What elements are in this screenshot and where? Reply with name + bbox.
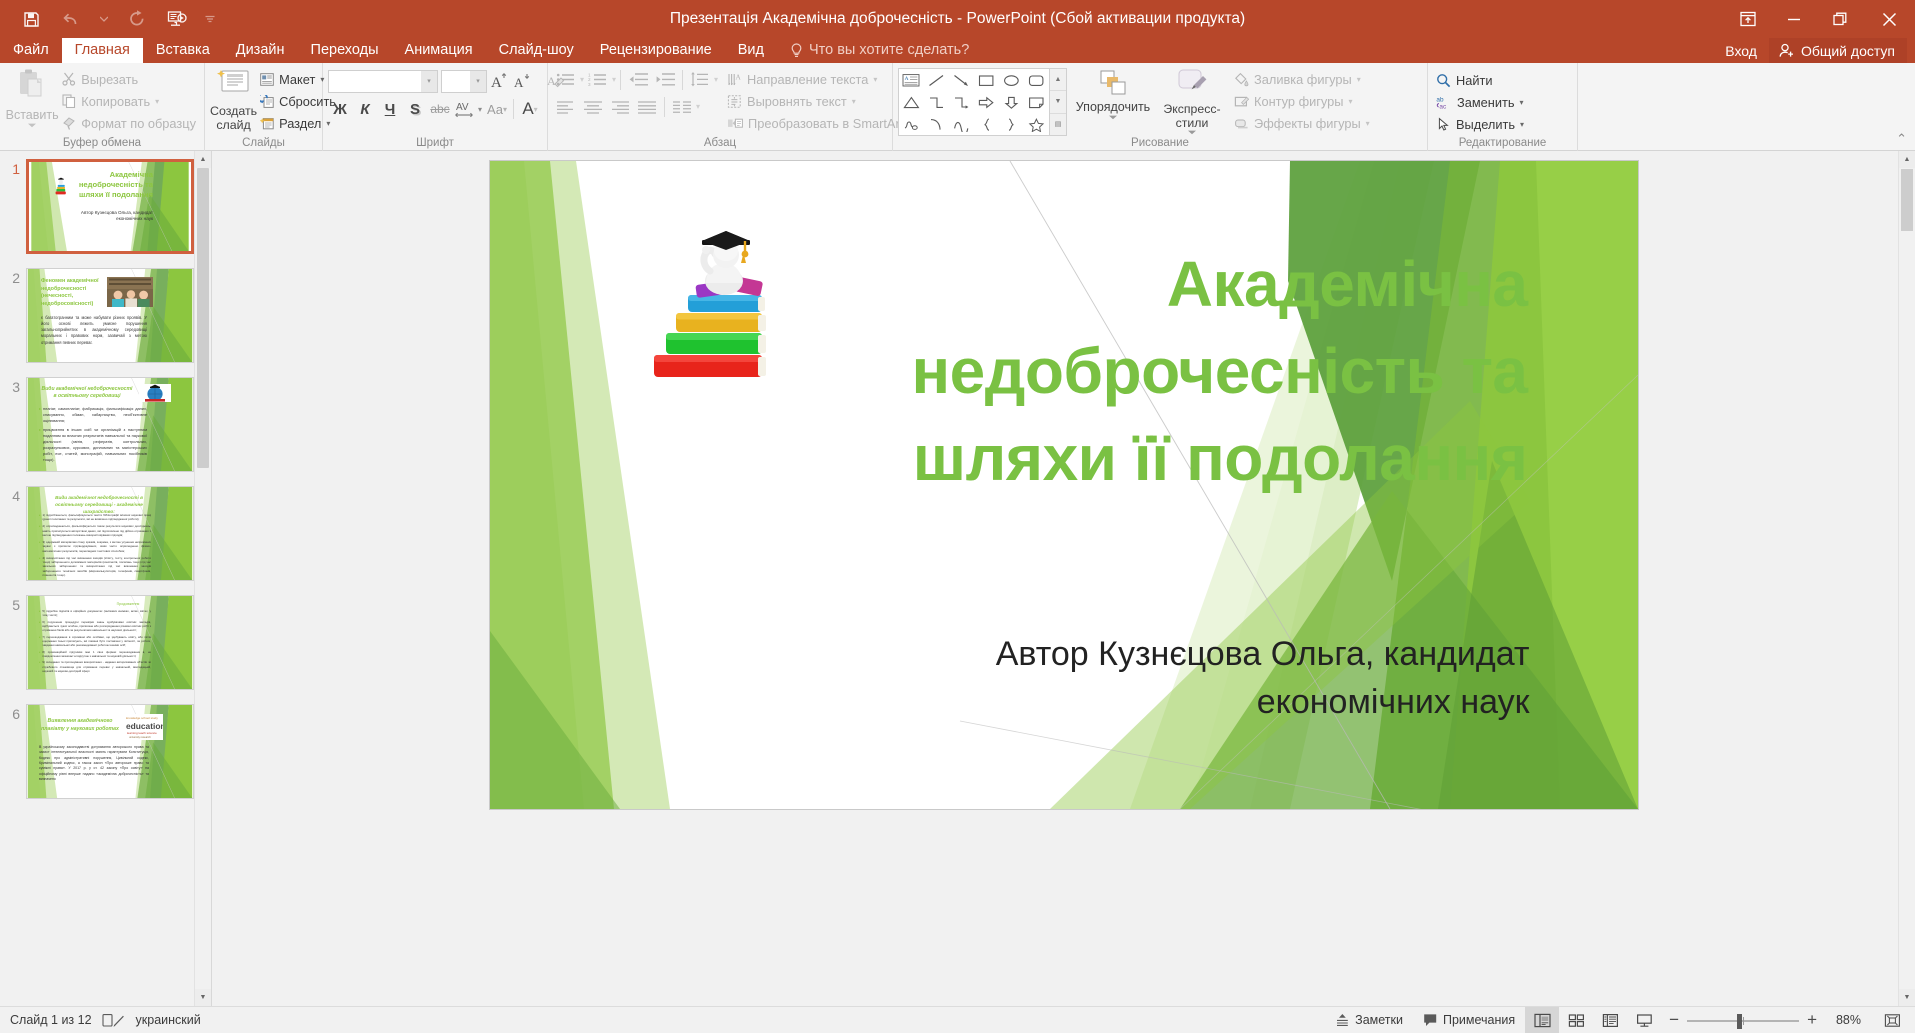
window-controls [1725, 0, 1915, 38]
slide-thumbnail-image[interactable]: Види академічної недоброчесності в освіт… [26, 486, 194, 581]
slide-thumbnail-title: Види академічної недоброчесності в освіт… [41, 386, 133, 401]
chevron-down-icon[interactable]: ▾ [580, 75, 584, 84]
shape-outline-button[interactable]: Контур фигуры ▾ [1231, 90, 1373, 112]
ribbon-display-options-icon[interactable] [1725, 0, 1771, 38]
ribbon-group-clipboard: Вставить Вырезать Копировать ▾ [0, 63, 205, 151]
character-spacing-button[interactable]: AV ▾ [453, 97, 484, 121]
find-label: Найти [1456, 73, 1493, 88]
language-indicator[interactable]: украинский [136, 1013, 201, 1027]
notes-button[interactable]: Заметки [1325, 1007, 1413, 1033]
section-icon [260, 117, 274, 130]
reset-icon [260, 95, 274, 108]
fit-slide-to-window-button[interactable] [1875, 1007, 1909, 1033]
ribbon-group-paragraph-label: Абзац [553, 136, 887, 151]
status-bar-left: Слайд 1 из 12 украинский [0, 1013, 201, 1028]
slide-thumbnail-title: Продовження [105, 602, 151, 606]
notes-icon [1335, 1013, 1350, 1027]
shape-effects-button[interactable]: Эффекты фигуры ▾ [1231, 112, 1373, 134]
chevron-down-icon[interactable]: ▾ [852, 97, 856, 106]
copy-button[interactable]: Копировать ▾ [59, 90, 199, 112]
minimize-icon[interactable] [1771, 0, 1817, 38]
align-center-button[interactable] [580, 95, 606, 119]
zoom-slider[interactable] [1687, 1007, 1799, 1033]
svg-text:AV: AV [456, 102, 469, 113]
replace-icon: abac [1436, 95, 1452, 110]
svg-text:education: education [126, 721, 163, 731]
shapes-gallery-scrollbar[interactable]: ▲ ▼ ▤ [1050, 68, 1067, 136]
tab-slideshow[interactable]: Слайд-шоу [486, 38, 587, 63]
comments-label: Примечания [1443, 1013, 1515, 1027]
chevron-down-icon[interactable]: ▾ [1357, 75, 1361, 84]
ribbon: Вставить Вырезать Копировать ▾ [0, 63, 1915, 151]
text-direction-label: Направление текста [747, 72, 868, 87]
comments-button[interactable]: Примечания [1413, 1007, 1525, 1033]
zoom-slider-handle[interactable] [1737, 1014, 1742, 1029]
shape-effects-label: Эффекты фигуры [1254, 116, 1361, 131]
divider [664, 97, 665, 117]
chevron-down-icon[interactable]: ▾ [155, 97, 159, 106]
shape-curve-icon[interactable] [949, 113, 974, 135]
shapes-more-icon[interactable]: ▤ [1050, 114, 1066, 135]
normal-view-button[interactable] [1525, 1007, 1559, 1033]
workspace: 1 [0, 151, 1915, 1006]
slide-thumbnail-image[interactable]: Академічна недоброчесність та шляхи її п… [26, 159, 194, 254]
change-case-button[interactable]: Aa ▾ [485, 97, 509, 121]
redo-icon[interactable] [118, 3, 156, 35]
slide-thumbnail-6[interactable]: 6 Виявлення академічного плагіату у наук… [0, 704, 211, 813]
slide-title[interactable]: Академічна недоброчесність та шляхи її п… [820, 241, 1528, 502]
shape-outline-icon [1234, 94, 1249, 109]
thumbnails-scrollbar[interactable]: ▲ ▼ [194, 151, 211, 1006]
slide-thumbnail-list: 1 [0, 151, 211, 813]
tell-me-label: Что вы хотите сделать? [809, 41, 969, 60]
undo-icon[interactable] [52, 3, 90, 35]
slide-thumbnail-photo [107, 277, 153, 307]
ribbon-group-paragraph: ▾ 123 ▾ ▾ [548, 63, 893, 151]
bullet-icon: ▸ [39, 620, 40, 633]
shape-effects-icon [1234, 116, 1249, 131]
search-icon [1436, 73, 1451, 88]
zoom-level-label[interactable]: 88% [1825, 1013, 1867, 1027]
cut-label: Вырезать [81, 72, 138, 87]
bullet-icon: ▸ [39, 427, 41, 463]
tabstrip-right-zone: Вход Общий доступ [1713, 38, 1915, 63]
font-color-button[interactable]: A ▾ [518, 97, 542, 121]
svg-text:ac: ac [1439, 103, 1447, 109]
ribbon-group-drawing: A [893, 63, 1428, 151]
svg-text:learning teach science: learning teach science [127, 731, 157, 735]
shape-arc-icon[interactable] [924, 113, 949, 135]
bullet-icon: ▸ [39, 660, 40, 673]
svg-text:ab: ab [1436, 96, 1444, 103]
slide-number: 5 [0, 595, 26, 613]
shape-scribble-icon[interactable] [899, 113, 924, 135]
align-text-button[interactable]: Выровнять текст ▾ [724, 90, 915, 112]
increase-font-size-button[interactable]: A [490, 69, 510, 93]
zoom-slider-midpoint [1743, 1017, 1744, 1025]
save-icon[interactable] [12, 3, 50, 35]
title-bar: Презентація Академічна доброчесність - P… [0, 0, 1915, 38]
svg-text:university research: university research [129, 735, 151, 739]
ribbon-group-drawing-label: Рисование [898, 136, 1422, 151]
restore-icon[interactable] [1817, 0, 1863, 38]
quick-access-toolbar [0, 3, 222, 35]
font-name-combobox[interactable]: ▾ [328, 70, 438, 93]
copy-icon [62, 94, 76, 108]
tell-me-search[interactable]: Что вы хотите сделать? [777, 38, 982, 63]
current-slide[interactable]: Академічна недоброчесність та шляхи її п… [490, 161, 1638, 809]
ribbon-group-slides-label: Слайды [210, 136, 317, 151]
tab-transitions[interactable]: Переходы [298, 38, 392, 63]
ribbon-group-slides: Создать слайд Макет ▾ Сбросить [205, 63, 323, 151]
status-bar-right: Заметки Примечания − + 8 [1325, 1007, 1915, 1033]
slideshow-view-button[interactable] [1627, 1007, 1661, 1033]
shape-fill-icon [1234, 72, 1249, 87]
format-painter-label: Формат по образцу [81, 116, 196, 131]
svg-text:A: A [905, 76, 909, 82]
shape-rectangle-icon[interactable] [974, 69, 999, 91]
font-name-input[interactable] [329, 72, 421, 91]
new-slide-label: Создать слайд [210, 104, 257, 132]
bullet-icon: ▸ [39, 513, 40, 522]
chevron-down-icon[interactable]: ▾ [478, 105, 482, 114]
chevron-down-icon[interactable]: ▾ [1366, 119, 1370, 128]
slide-thumbnail-4[interactable]: 4 Види академічної недоброчесності в осв… [0, 486, 211, 595]
svg-text:A: A [491, 75, 502, 90]
shape-elbow-arrow-icon[interactable] [949, 91, 974, 113]
status-bar: Слайд 1 из 12 украинский Заметки Примеча… [0, 1006, 1915, 1033]
layout-label: Макет [279, 72, 315, 87]
tab-view[interactable]: Вид [725, 38, 777, 63]
slide-thumbnails-pane: 1 [0, 151, 212, 1006]
shape-ellipse-icon[interactable] [999, 69, 1024, 91]
shape-right-brace-icon[interactable] [999, 113, 1024, 135]
scroll-down-icon[interactable]: ▼ [1050, 91, 1066, 113]
divider [620, 70, 621, 90]
thumbnails-scrollbar-thumb[interactable] [197, 168, 209, 468]
ribbon-group-editing: Найти abac Заменить ▾ Выделить ▾ [1428, 63, 1578, 151]
bullet-icon: ▸ [39, 556, 40, 578]
ribbon-group-font-label: Шрифт [328, 136, 542, 151]
slide-thumbnail-image[interactable]: Виявлення академічного плагіату у науков… [26, 704, 194, 799]
slide-scrollbar-thumb[interactable] [1901, 169, 1913, 231]
replace-button[interactable]: abac Заменить ▾ [1433, 91, 1527, 113]
shape-line-icon[interactable] [924, 69, 949, 91]
align-left-button[interactable] [553, 95, 579, 119]
slide-sorter-view-button[interactable] [1559, 1007, 1593, 1033]
divider [513, 99, 514, 119]
slide-thumbnail-5[interactable]: 5 Продовження ▸5) підробка підпи [0, 595, 211, 704]
shape-elbow-connector-icon[interactable] [924, 91, 949, 113]
shape-arrow-icon[interactable] [949, 69, 974, 91]
slide-canvas-area: Академічна недоброчесність та шляхи її п… [212, 151, 1915, 1006]
format-painter-button[interactable]: Формат по образцу [59, 112, 199, 134]
quick-styles-label: Экспресс-стили [1153, 102, 1231, 130]
strikethrough-button[interactable]: abc [428, 97, 452, 121]
text-direction-icon: A [727, 72, 742, 87]
chevron-down-icon[interactable]: ▾ [696, 102, 700, 111]
chevron-down-icon[interactable]: ▾ [714, 75, 718, 84]
justify-button[interactable] [634, 95, 660, 119]
share-label: Общий доступ [1801, 43, 1895, 59]
sign-in-link[interactable]: Вход [1713, 43, 1769, 59]
person-add-icon [1779, 43, 1795, 58]
shape-folded-corner-icon[interactable] [1024, 91, 1049, 113]
slide-author[interactable]: Автор Кузнєцова Ольга, кандидат економіч… [820, 631, 1530, 726]
zoom-control[interactable]: − + 88% [1661, 1007, 1875, 1033]
shape-right-arrow-icon[interactable] [974, 91, 999, 113]
arrange-label: Упорядочить [1076, 100, 1150, 114]
slide-thumbnail-3[interactable]: 3 Види академічної недоброчесності в осв… [0, 377, 211, 486]
slide-thumbnail-image[interactable]: Продовження ▸5) підробка підписів в офіц… [26, 595, 194, 690]
slide-thumbnail-body: В українському законодавстві дотримання … [39, 745, 149, 782]
shape-fill-button[interactable]: Заливка фигуры ▾ [1231, 68, 1373, 90]
slide-thumbnail-title: Феномен академічної недоброчесності (неч… [41, 278, 103, 309]
align-text-icon [727, 94, 742, 109]
text-shadow-button[interactable]: S [403, 97, 427, 121]
notes-label: Заметки [1355, 1013, 1403, 1027]
window-title: Презентація Академічна доброчесність - P… [0, 10, 1915, 28]
tab-home[interactable]: Главная [62, 38, 143, 63]
comment-icon [1423, 1013, 1438, 1027]
new-slide-button[interactable]: Создать слайд [210, 66, 257, 132]
chevron-down-icon[interactable]: ▾ [1520, 120, 1524, 129]
italic-button[interactable]: К [353, 97, 377, 121]
cut-button[interactable]: Вырезать [59, 68, 199, 90]
increase-indent-button[interactable] [652, 68, 678, 92]
convert-to-smartart-label: Преобразовать в SmartArt [748, 116, 903, 131]
slide-number: 4 [0, 486, 26, 504]
slide-thumbnail-bullets: ▸1) підроблюються, фальсифікуються текст… [39, 513, 151, 577]
slide-thumbnail-title: Виявлення академічного плагіату у науков… [41, 718, 119, 733]
arrange-button[interactable]: Упорядочить [1067, 66, 1153, 120]
chevron-down-icon[interactable]: ▾ [503, 105, 507, 114]
align-text-label: Выровнять текст [747, 94, 847, 109]
convert-to-smartart-button[interactable]: Преобразовать в SmartArt ▾ [724, 112, 915, 134]
line-spacing-button[interactable] [687, 68, 713, 92]
scroll-up-icon[interactable]: ▲ [1050, 69, 1066, 91]
shape-triangle-icon[interactable] [899, 91, 924, 113]
numbering-button[interactable]: 123 [585, 68, 611, 92]
bullet-icon: ▸ [39, 635, 40, 648]
chevron-down-icon[interactable]: ▾ [873, 75, 877, 84]
svg-text:A: A [735, 72, 741, 81]
svg-text:A: A [514, 75, 524, 90]
chevron-down-icon[interactable]: ▾ [421, 71, 437, 92]
align-right-button[interactable] [607, 95, 633, 119]
reading-view-button[interactable] [1593, 1007, 1627, 1033]
shape-textbox-icon[interactable]: A [899, 69, 924, 91]
layout-icon [260, 73, 274, 86]
columns-button[interactable] [669, 95, 695, 119]
slide-thumbnail-image[interactable]: Феномен академічної недоброчесності (неч… [26, 268, 194, 363]
slide-thumbnail-photo [139, 384, 171, 402]
scissors-icon [62, 72, 76, 86]
smartart-icon [727, 116, 743, 131]
spell-check-icon[interactable] [102, 1013, 126, 1028]
underline-button[interactable]: Ч [378, 97, 402, 121]
font-size-input[interactable] [442, 72, 470, 91]
bullet-icon: ▸ [39, 524, 40, 537]
slide-thumbnail-title: Академічна недоброчесність та шляхи її п… [63, 170, 153, 200]
collapse-ribbon-button[interactable]: ⌃ [1896, 131, 1907, 147]
slide-thumbnail-subtitle: Автор Кузнєцова Ольга, кандидат економіч… [69, 210, 153, 222]
shapes-gallery[interactable]: A [898, 66, 1067, 136]
tab-review[interactable]: Рецензирование [587, 38, 725, 63]
ribbon-tabs: Файл Главная Вставка Дизайн Переходы Ани… [0, 38, 1915, 63]
bullet-icon: ▸ [39, 609, 40, 617]
slide-thumbnail-bullets: ▸плагіат, самоплагіат, фабрикація, фальс… [39, 406, 147, 463]
format-painter-icon [62, 116, 76, 130]
decrease-font-size-button[interactable]: A [513, 69, 533, 93]
chevron-down-icon[interactable]: ▾ [612, 75, 616, 84]
chevron-down-icon[interactable]: ▾ [470, 71, 486, 92]
tab-insert[interactable]: Вставка [143, 38, 223, 63]
slide-vertical-scrollbar[interactable]: ▲ ▼ [1898, 151, 1915, 1006]
ribbon-group-font: ▾ ▾ A A A Ж К Ч [323, 63, 548, 151]
shape-down-arrow-icon[interactable] [999, 91, 1024, 113]
chevron-down-icon[interactable]: ▾ [534, 105, 538, 114]
slide-number: 1 [0, 159, 26, 177]
font-size-combobox[interactable]: ▾ [441, 70, 487, 93]
scroll-down-icon[interactable]: ▼ [195, 989, 211, 1006]
chevron-down-icon[interactable]: ▾ [1520, 98, 1524, 107]
tab-file[interactable]: Файл [0, 38, 62, 63]
shape-outline-label: Контур фигуры [1254, 94, 1344, 109]
text-direction-button[interactable]: A Направление текста ▾ [724, 68, 915, 90]
slide-counter: Слайд 1 из 12 [10, 1013, 92, 1027]
tab-design[interactable]: Дизайн [223, 38, 298, 63]
bold-button[interactable]: Ж [328, 97, 352, 121]
start-slideshow-icon[interactable] [158, 3, 196, 35]
graduate-on-books-image [640, 221, 820, 391]
customize-qat-icon[interactable] [198, 3, 222, 35]
ribbon-group-clipboard-label: Буфер обмена [5, 136, 199, 151]
bullet-icon: ▸ [39, 650, 40, 658]
tab-animations[interactable]: Анимация [392, 38, 486, 63]
slide-number: 2 [0, 268, 26, 286]
copy-label: Копировать [81, 94, 150, 109]
share-button[interactable]: Общий доступ [1769, 38, 1907, 63]
replace-label: Заменить [1457, 95, 1515, 110]
slide-thumbnail-image[interactable]: Види академічної недоброчесності в освіт… [26, 377, 194, 472]
divider [682, 70, 683, 90]
bullets-button[interactable] [553, 68, 579, 92]
slide-thumbnail-2[interactable]: 2 Феномен академічної недоброчесності (н… [0, 268, 211, 377]
find-button[interactable]: Найти [1433, 69, 1527, 91]
shape-rounded-rectangle-icon[interactable] [1024, 69, 1049, 91]
scroll-up-icon[interactable]: ▲ [195, 151, 211, 168]
shape-fill-label: Заливка фигуры [1254, 72, 1352, 87]
shape-star-icon[interactable] [1024, 113, 1049, 135]
slide-thumbnail-body: є багатогранним та може набувати різних … [41, 315, 147, 346]
zoom-out-button[interactable]: − [1669, 1010, 1679, 1030]
slide-thumbnail-bullets: ▸5) підробка підписів в офіційних докуме… [39, 609, 151, 673]
paste-label: Вставить [6, 108, 59, 122]
slide-thumbnail-1[interactable]: 1 [0, 159, 211, 268]
undo-dropdown-icon[interactable] [92, 3, 116, 35]
chevron-down-icon[interactable]: ▾ [1349, 97, 1353, 106]
paste-button[interactable]: Вставить [5, 66, 59, 128]
close-icon[interactable] [1863, 0, 1915, 38]
decrease-indent-button[interactable] [625, 68, 651, 92]
select-button[interactable]: Выделить ▾ [1433, 113, 1527, 135]
bullet-icon: ▸ [39, 406, 41, 424]
bullet-icon: ▸ [39, 540, 40, 553]
section-label: Раздел [279, 116, 321, 131]
ribbon-group-editing-label: Редактирование [1433, 136, 1572, 151]
svg-text:3: 3 [588, 82, 591, 87]
svg-text:knowledge school study: knowledge school study [126, 716, 158, 720]
zoom-in-button[interactable]: + [1807, 1010, 1817, 1030]
slide-thumbnail-photo: education knowledge school study learnin… [123, 714, 163, 740]
quick-styles-button[interactable]: Экспресс-стили [1153, 66, 1231, 135]
scroll-up-icon[interactable]: ▲ [1899, 151, 1915, 168]
slide-number: 3 [0, 377, 26, 395]
select-icon [1436, 117, 1451, 132]
scroll-down-icon[interactable]: ▼ [1899, 989, 1915, 1006]
lightbulb-icon [790, 43, 803, 58]
slide-number: 6 [0, 704, 26, 722]
shape-left-brace-icon[interactable] [974, 113, 999, 135]
select-label: Выделить [1456, 117, 1515, 132]
